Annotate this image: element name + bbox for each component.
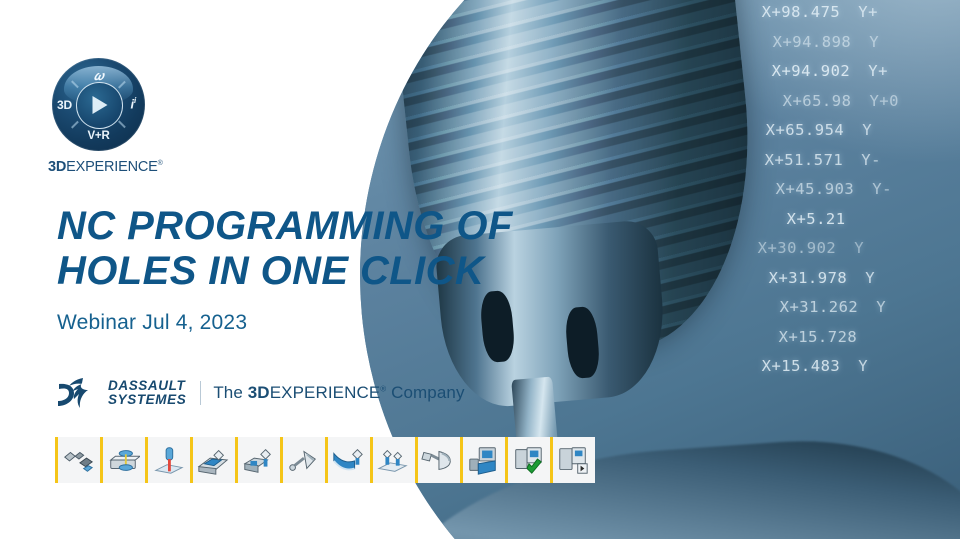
icon-cell[interactable] xyxy=(190,437,235,483)
cnc-y-value: Y- xyxy=(872,182,892,198)
compass-play-triangle xyxy=(93,96,108,114)
cnc-y-value: Y+ xyxy=(868,64,888,80)
cnc-x-value: X+5.21 xyxy=(787,212,846,228)
slide-title: NC PROGRAMMING OF HOLES IN ONE CLICK xyxy=(57,204,527,294)
tagline-company: Company xyxy=(386,383,464,402)
icon-cell[interactable] xyxy=(280,437,325,483)
slide-title-line-1: NC PROGRAMMING OF xyxy=(57,204,527,249)
dassault-systemes-mark-icon xyxy=(57,377,103,409)
cnc-y-value: Y xyxy=(876,300,886,316)
cnc-y-value: Y+0 xyxy=(869,94,899,110)
icon-cell[interactable] xyxy=(505,437,550,483)
cnc-coordinate-readout: X+99.542Y+0X+112.378X+101.143YX+107.393X… xyxy=(758,0,960,539)
company-tagline: The 3DEXPERIENCE® Company xyxy=(213,383,464,403)
cnc-readout-row: X+45.903Y- xyxy=(776,182,960,198)
cnc-readout-row: X+65.98Y+0 xyxy=(783,94,960,110)
compass-label-vr: V+R xyxy=(87,130,109,142)
cnc-x-value: X+51.571 xyxy=(765,153,844,169)
cnc-y-value: Y xyxy=(869,35,879,51)
cnc-y-value: Y- xyxy=(861,153,881,169)
icon-cell[interactable] xyxy=(145,437,190,483)
tagline-3d: 3D xyxy=(248,383,270,402)
cnc-x-value: X+94.902 xyxy=(772,64,851,80)
cnc-readout-row: X+51.571Y- xyxy=(765,153,960,169)
logo-divider xyxy=(200,381,201,405)
multi-hole-pattern-icon xyxy=(376,443,410,477)
cnc-x-value: X+98.475 xyxy=(762,5,841,21)
3dexperience-compass-icon: 𝝎 3D ii V+R xyxy=(52,58,145,151)
wordmark-3d: 3D xyxy=(48,159,66,175)
cnc-readout-row: X+15.728 xyxy=(779,330,960,346)
surface-machining-icon xyxy=(331,443,365,477)
cnc-x-value: X+15.483 xyxy=(762,359,841,375)
compass-tick xyxy=(71,121,78,128)
cnc-x-value: X+94.898 xyxy=(773,35,852,51)
axial-machining-icon xyxy=(106,443,140,477)
dassault-systemes-wordmark: DASSAULT SYSTEMES xyxy=(108,379,186,407)
cnc-readout-row: X+65.954Y xyxy=(766,123,960,139)
cnc-x-value: X+31.262 xyxy=(780,300,859,316)
wordmark-trademark: ® xyxy=(158,160,163,167)
compass-label-3d: 3D xyxy=(57,98,72,112)
brand-logo-block: 𝝎 3D ii V+R 3DEXPERIENCE® xyxy=(48,58,164,175)
wordmark-experience: EXPERIENCE xyxy=(66,159,157,175)
cnc-readout-row: X+30.902Y xyxy=(758,241,960,257)
cnc-y-value: Y xyxy=(862,123,872,139)
cnc-readout-row: X+5.21 xyxy=(787,212,960,228)
machine-setup-icon xyxy=(466,443,500,477)
cnc-y-value: Y xyxy=(865,271,875,287)
cnc-readout-row: X+94.902Y+ xyxy=(772,64,960,80)
wordmark-systemes: SYSTEMES xyxy=(108,393,186,407)
tagline-the: The xyxy=(213,383,247,402)
icon-cell[interactable] xyxy=(370,437,415,483)
nc-simulation-check-icon xyxy=(511,443,545,477)
machining-icon-strip xyxy=(55,437,595,483)
cnc-y-value: Y xyxy=(858,359,868,375)
icon-cell[interactable] xyxy=(325,437,370,483)
slide-title-line-2: HOLES IN ONE CLICK xyxy=(57,249,527,294)
cnc-y-value: Y+ xyxy=(858,5,878,21)
pocket-milling-icon xyxy=(196,443,230,477)
dassault-systemes-logo: DASSAULT SYSTEMES The 3DEXPERIENCE® Comp… xyxy=(57,376,465,410)
cnc-readout-row: X+98.475Y+ xyxy=(762,5,960,21)
icon-cell[interactable] xyxy=(100,437,145,483)
cnc-readout-row: X+31.262Y xyxy=(780,300,960,316)
cnc-readout-row: X+31.978Y xyxy=(769,271,960,287)
prismatic-machining-icon xyxy=(241,443,275,477)
cnc-x-value: X+45.903 xyxy=(776,182,855,198)
cnc-x-value: X+65.954 xyxy=(766,123,845,139)
cnc-x-value: X+15.728 xyxy=(779,330,858,346)
icon-cell[interactable] xyxy=(55,437,100,483)
tool-path-icon xyxy=(421,443,455,477)
cnc-x-value: X+30.902 xyxy=(758,241,837,257)
icon-cell[interactable] xyxy=(235,437,280,483)
hole-probe-icon xyxy=(151,443,185,477)
icon-cell[interactable] xyxy=(460,437,505,483)
wordmark-dassault: DASSAULT xyxy=(108,379,186,393)
3dexperience-wordmark: 3DEXPERIENCE® xyxy=(48,159,164,175)
cnc-readout-row: X+15.483Y xyxy=(762,359,960,375)
cnc-readout-row: X+94.898Y xyxy=(773,35,960,51)
multi-axis-drill-icon xyxy=(286,443,320,477)
tagline-experience: EXPERIENCE xyxy=(270,383,381,402)
slide-subtitle: Webinar Jul 4, 2023 xyxy=(57,311,247,335)
compass-tick xyxy=(118,121,125,128)
cnc-x-value: X+65.98 xyxy=(783,94,852,110)
nc-code-output-icon xyxy=(556,443,590,477)
compass-label-i: ii xyxy=(131,96,136,111)
drilling-tool-icon xyxy=(61,443,95,477)
icon-cell[interactable] xyxy=(550,437,595,483)
presentation-slide: X+99.542Y+0X+112.378X+101.143YX+107.393X… xyxy=(0,0,960,539)
cnc-y-value: Y xyxy=(854,241,864,257)
compass-top-glyph: 𝝎 xyxy=(93,68,103,84)
cnc-x-value: X+31.978 xyxy=(769,271,848,287)
icon-cell[interactable] xyxy=(415,437,460,483)
